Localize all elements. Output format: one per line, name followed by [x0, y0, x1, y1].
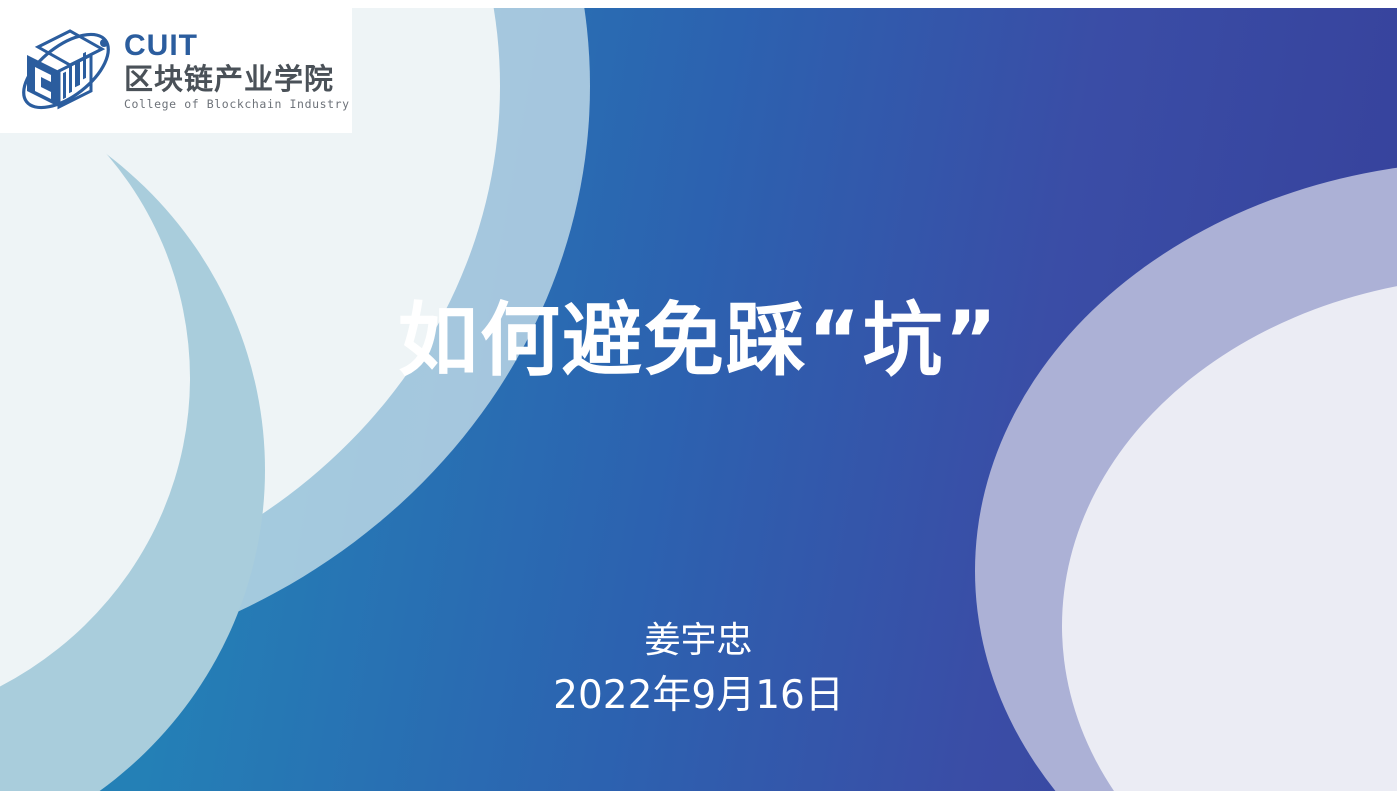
slide-root: CUIT 区块链产业学院 College of Blockchain Indus…	[0, 0, 1397, 794]
logo-acronym: CUIT	[124, 31, 350, 61]
slide-canvas: CUIT 区块链产业学院 College of Blockchain Indus…	[0, 8, 1397, 791]
presentation-date: 2022年9月16日	[0, 673, 1397, 720]
presenter-name: 姜宇忠	[0, 619, 1397, 662]
logo-name-en: College of Blockchain Industry	[124, 99, 350, 111]
slide-title: 如何避免踩“坑”	[0, 298, 1397, 384]
logo-name-cn: 区块链产业学院	[124, 63, 350, 95]
cuit-blockchain-cube-logo-icon	[12, 21, 120, 121]
logo-wordmark: CUIT 区块链产业学院 College of Blockchain Indus…	[124, 31, 350, 111]
institution-logo-plate: CUIT 区块链产业学院 College of Blockchain Indus…	[0, 8, 352, 133]
